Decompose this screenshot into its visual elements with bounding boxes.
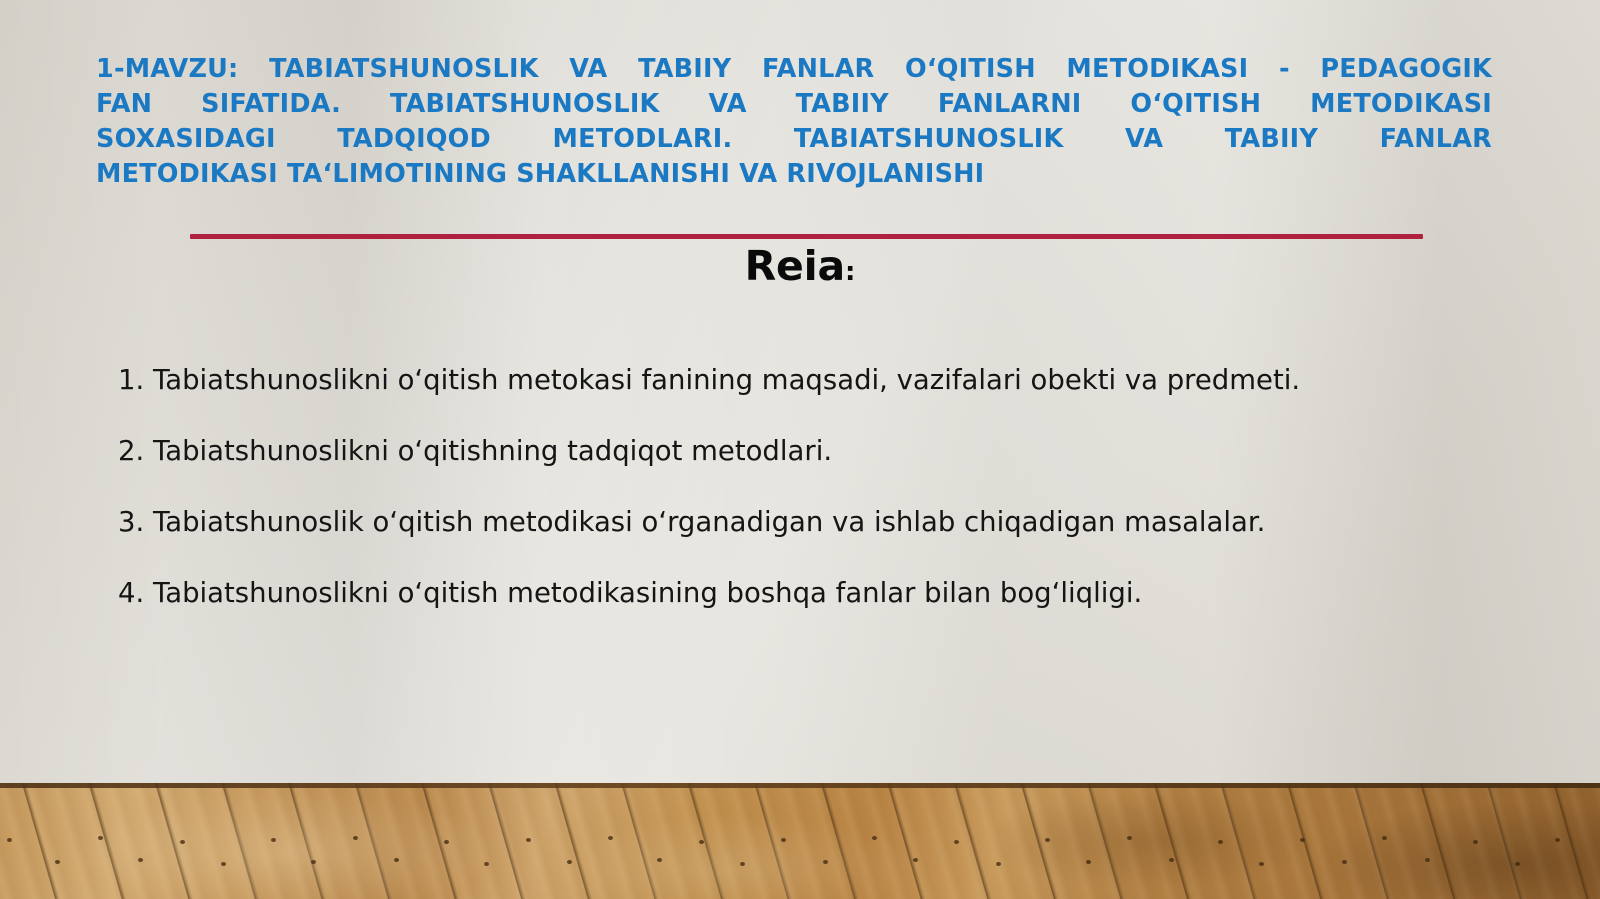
list-item-text: 1. Tabiatshunoslikni o‘qitish metokasi f… bbox=[118, 364, 1300, 396]
accent-divider-rule bbox=[190, 234, 1423, 239]
list-item-text: 4. Tabiatshunoslikni o‘qitish metodikasi… bbox=[118, 577, 1142, 609]
list-item: 3. Tabiatshunoslik o‘qitish metodikasi o… bbox=[118, 494, 1458, 551]
floor-nails bbox=[0, 783, 1600, 899]
title-line-2: FAN SIFATIDA. TABIATSHUNOSLIK VA TABIIY … bbox=[96, 87, 1492, 122]
section-heading: Reia: bbox=[0, 246, 1600, 287]
list-item: 2. Tabiatshunoslikni o‘qitishning tadqiq… bbox=[118, 423, 1458, 480]
slide-title: 1-MAVZU: TABIATSHUNOSLIK VA TABIIY FANLA… bbox=[96, 52, 1492, 192]
presentation-slide: 1-MAVZU: TABIATSHUNOSLIK VA TABIIY FANLA… bbox=[0, 0, 1600, 899]
title-line-3: SOXASIDAGI TADQIQOD METODLARI. TABIATSHU… bbox=[96, 122, 1492, 157]
list-item-text: 2. Tabiatshunoslikni o‘qitishning tadqiq… bbox=[118, 435, 832, 467]
floor-top-edge bbox=[0, 783, 1600, 788]
title-line-4: METODIKASI TA‘LIMOTINING SHAKLLANISHI VA… bbox=[96, 157, 1492, 192]
list-item-text: 3. Tabiatshunoslik o‘qitish metodikasi o… bbox=[118, 506, 1265, 538]
wooden-floor-image bbox=[0, 783, 1600, 899]
list-item: 1. Tabiatshunoslikni o‘qitish metokasi f… bbox=[118, 352, 1458, 409]
agenda-list: 1. Tabiatshunoslikni o‘qitish metokasi f… bbox=[118, 352, 1458, 636]
list-item: 4. Tabiatshunoslikni o‘qitish metodikasi… bbox=[118, 565, 1458, 622]
section-heading-word: Reia bbox=[745, 242, 845, 290]
title-line-1: 1-MAVZU: TABIATSHUNOSLIK VA TABIIY FANLA… bbox=[96, 52, 1492, 87]
section-heading-colon: : bbox=[845, 257, 855, 287]
